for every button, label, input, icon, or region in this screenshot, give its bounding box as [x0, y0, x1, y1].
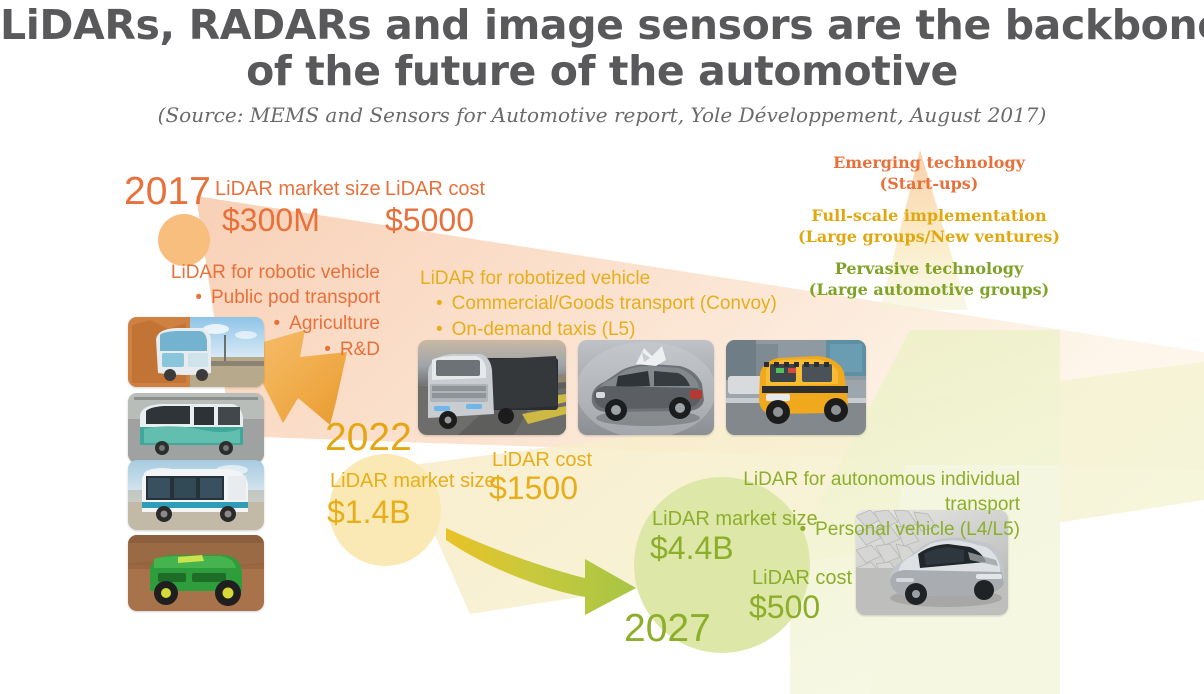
legend-pervasive-line2: (Large automotive groups)	[790, 279, 1068, 300]
bullet-dot-icon: •	[436, 291, 443, 317]
photo-yellow-autonomous-taxi-street	[726, 340, 866, 435]
legend-emerging-line2: (Start-ups)	[790, 173, 1068, 194]
cost-value-2022: $1500	[489, 470, 578, 507]
bullet-dot-icon: •	[274, 311, 281, 337]
arrow-2022-2027	[446, 528, 636, 615]
application-header-2022: LiDAR for robotized vehicle	[420, 266, 777, 291]
legend-fullscale-line2: (Large groups/New ventures)	[790, 226, 1068, 247]
market-size-value-2017: $300M	[222, 202, 320, 239]
title-block: LiDARs, RADARs and image sensors are the…	[0, 0, 1204, 127]
cost-value-2017: $5000	[385, 202, 474, 239]
application-bullet-2027-1: •Personal vehicle (L4/L5)	[672, 517, 1020, 543]
cost-label-2022: LiDAR cost	[492, 449, 592, 472]
legend-item-pervasive: Pervasive technology (Large automotive g…	[790, 258, 1068, 300]
market-size-label-2017: LiDAR market size	[215, 178, 381, 201]
year-label-2017: 2017	[124, 170, 211, 214]
market-size-label-2022: LiDAR market size	[330, 470, 496, 493]
legend-emerging-line1: Emerging technology	[790, 152, 1068, 173]
source-subtitle: (Source: MEMS and Sensors for Automotive…	[0, 103, 1204, 127]
market-size-value-2022: $1.4B	[327, 494, 411, 531]
application-header-2027: LiDAR for autonomous individual transpor…	[672, 467, 1020, 517]
application-block-2017: LiDAR for robotic vehicle •Public pod tr…	[150, 260, 380, 363]
bullet-dot-icon: •	[799, 517, 806, 543]
application-block-2027: LiDAR for autonomous individual transpor…	[672, 467, 1020, 543]
bullet-dot-icon: •	[324, 337, 331, 363]
photo-green-agricultural-robot	[128, 535, 264, 611]
year-label-2022: 2022	[325, 416, 412, 460]
circle-2017	[158, 214, 210, 266]
photo-teal-autonomous-pod-bus	[128, 393, 264, 463]
application-block-2022: LiDAR for robotized vehicle •Commercial/…	[420, 266, 777, 343]
cost-label-2017: LiDAR cost	[385, 178, 485, 201]
slide-canvas: LiDARs, RADARs and image sensors are the…	[0, 0, 1204, 694]
cost-value-2027: $500	[749, 589, 820, 626]
application-bullet-2017-3: •R&D	[150, 337, 380, 363]
title-line-2: of the future of the automotive	[0, 48, 1204, 94]
application-bullet-2017-1: •Public pod transport	[150, 285, 380, 311]
legend-fullscale-line1: Full-scale implementation	[790, 205, 1068, 226]
photo-autonomous-semi-truck-highway	[418, 340, 566, 435]
title-line-1: LiDARs, RADARs and image sensors are the…	[0, 2, 1204, 48]
application-header-2017: LiDAR for robotic vehicle	[150, 260, 380, 285]
legend-pervasive-line1: Pervasive technology	[790, 258, 1068, 279]
bullet-dot-icon: •	[195, 285, 202, 311]
application-bullet-2022-1: •Commercial/Goods transport (Convoy)	[420, 291, 777, 317]
technology-maturity-legend: Emerging technology (Start-ups) Full-sca…	[790, 152, 1068, 300]
photo-blue-white-autonomous-shuttle-bus	[128, 460, 264, 530]
application-bullet-2017-2: •Agriculture	[150, 311, 380, 337]
legend-item-emerging: Emerging technology (Start-ups)	[790, 152, 1068, 194]
application-bullet-2022-2: •On-demand taxis (L5)	[420, 317, 777, 343]
photo-grey-suv-with-roof-lidar	[578, 340, 714, 435]
cost-label-2027: LiDAR cost	[752, 567, 852, 590]
year-label-2027: 2027	[624, 607, 711, 651]
legend-item-fullscale: Full-scale implementation (Large groups/…	[790, 205, 1068, 247]
bullet-dot-icon: •	[436, 317, 443, 343]
